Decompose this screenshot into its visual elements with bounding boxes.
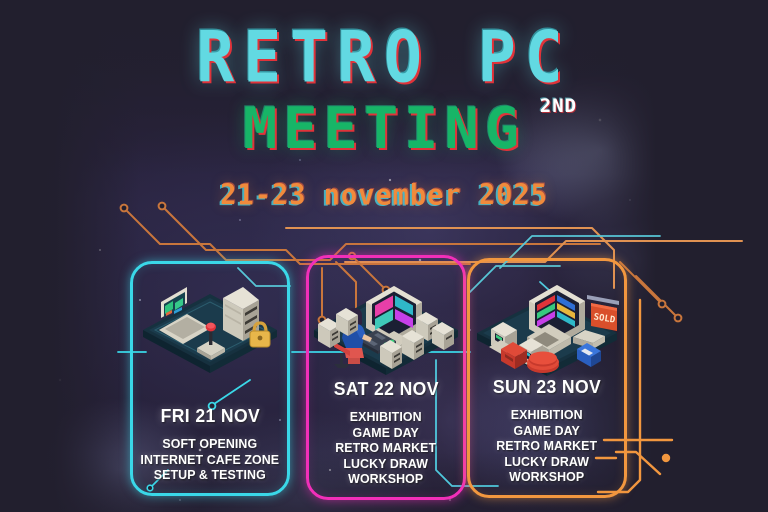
card-day-label: FRI 21 NOV	[160, 405, 260, 427]
title-line-retro-pc: RETRO PC	[0, 22, 768, 93]
agenda-item: LUCKY DRAW	[497, 454, 598, 470]
agenda-item: WORKSHOP	[497, 469, 598, 485]
agenda-item: RETRO MARKET	[336, 440, 437, 456]
card-day-label: SUN 23 NOV	[493, 376, 601, 398]
agenda-item: SETUP & TESTING	[141, 467, 280, 483]
agenda-item: GAME DAY	[497, 423, 598, 439]
event-date: 21-23 november 2025	[0, 179, 768, 212]
agenda-item: EXHIBITION	[336, 409, 437, 425]
card-agenda-list: EXHIBITION GAME DAY RETRO MARKET LUCKY D…	[332, 409, 439, 487]
agenda-item: WORKSHOP	[336, 471, 437, 487]
edition-badge: 2ND	[540, 95, 577, 117]
artwork-laptop-server-joystick-padlock-icon	[111, 278, 309, 375]
schedule-card-sunday[interactable]: SOLD	[467, 258, 627, 498]
agenda-item: LUCKY DRAW	[336, 456, 437, 472]
agenda-item: EXHIBITION	[497, 407, 598, 423]
title-line-meeting: MEETING	[243, 96, 525, 162]
schedule-card-friday[interactable]: FRI 21 NOV SOFT OPENING INTERNET CAFE ZO…	[130, 261, 290, 496]
card-day-label: SAT 22 NOV	[333, 378, 438, 400]
agenda-item: SOFT OPENING	[141, 436, 280, 452]
title-line-meeting-wrap: MEETING 2ND	[243, 101, 525, 158]
schedule-card-saturday[interactable]: SAT 22 NOV EXHIBITION GAME DAY RETRO MAR…	[306, 255, 466, 500]
card-agenda-list: SOFT OPENING INTERNET CAFE ZONE SETUP & …	[136, 436, 284, 483]
agenda-item: INTERNET CAFE ZONE	[141, 452, 280, 468]
agenda-item: GAME DAY	[336, 425, 437, 441]
agenda-item: RETRO MARKET	[497, 438, 598, 454]
artwork-retro-computers-sold-sign-icon: SOLD	[448, 275, 646, 352]
poster-canvas: RETRO PC MEETING 2ND 21-23 november 2025	[0, 0, 768, 512]
card-agenda-list: EXHIBITION GAME DAY RETRO MARKET LUCKY D…	[493, 407, 600, 485]
poster-headline: RETRO PC MEETING 2ND 21-23 november 2025	[0, 0, 768, 211]
